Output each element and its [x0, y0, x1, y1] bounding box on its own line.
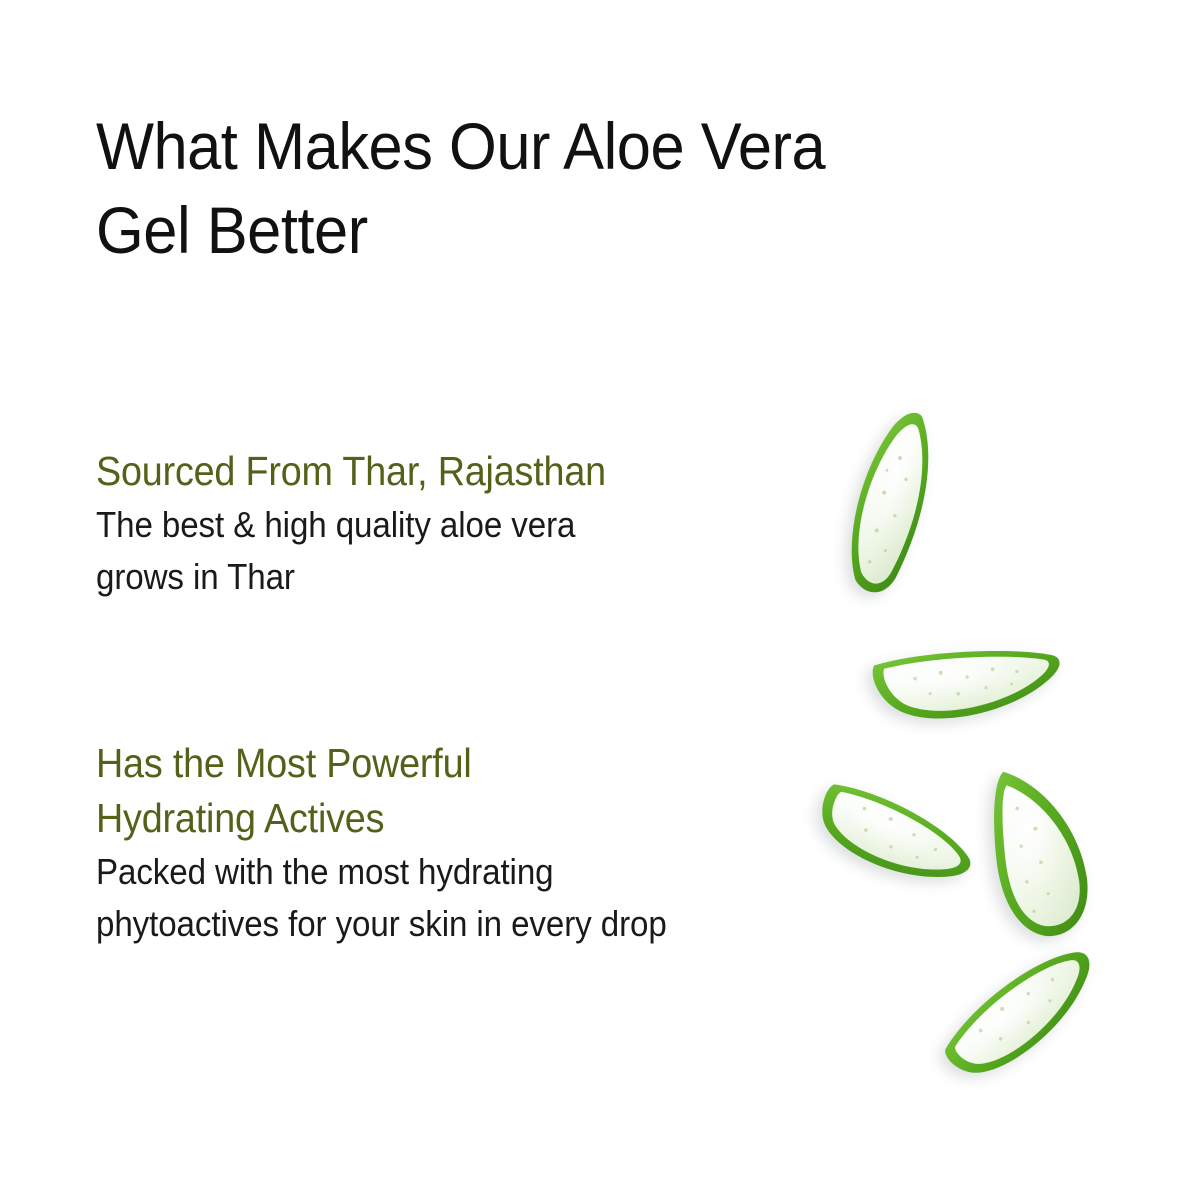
page-title: What Makes Our Aloe Vera Gel Better — [96, 104, 976, 272]
aloe-gel-sheen — [945, 950, 1099, 1078]
page-title-line-1: What Makes Our Aloe Vera — [96, 104, 914, 188]
feature-heading-sourced: Sourced From Thar, Rajasthan — [96, 444, 740, 499]
aloe-vera-feature-page: What Makes Our Aloe Vera Gel Better Sour… — [0, 0, 1200, 1200]
feature-block-sourced: Sourced From Thar, Rajasthan The best & … — [96, 444, 796, 603]
feature-body-hydrating: Packed with the most hydrating phytoacti… — [96, 846, 777, 950]
aloe-slice-middle-right — [978, 758, 1108, 948]
feature-heading-hydrating: Has the Most Powerful Hydrating Actives — [96, 736, 777, 846]
feature-body-sourced: The best & high quality aloe vera grows … — [96, 499, 740, 603]
aloe-slice-middle-left — [800, 785, 970, 925]
feature-body-line: Packed with the most hydrating — [96, 846, 777, 898]
page-title-line-2: Gel Better — [96, 188, 914, 272]
aloe-slice-group — [780, 390, 1200, 1130]
aloe-slice-bottom — [942, 955, 1132, 1105]
feature-block-hydrating: Has the Most Powerful Hydrating Actives … — [96, 736, 836, 950]
feature-heading-line: Hydrating Actives — [96, 791, 777, 846]
feature-body-line: The best & high quality aloe vera — [96, 499, 740, 551]
feature-body-line: grows in Thar — [96, 551, 740, 603]
aloe-slice-upper-middle — [868, 635, 1068, 745]
feature-heading-line: Has the Most Powerful — [96, 736, 777, 791]
feature-body-line: phytoactives for your skin in every drop — [96, 898, 777, 950]
feature-heading-line: Sourced From Thar, Rajasthan — [96, 444, 740, 499]
aloe-slice-top-left — [828, 408, 978, 608]
